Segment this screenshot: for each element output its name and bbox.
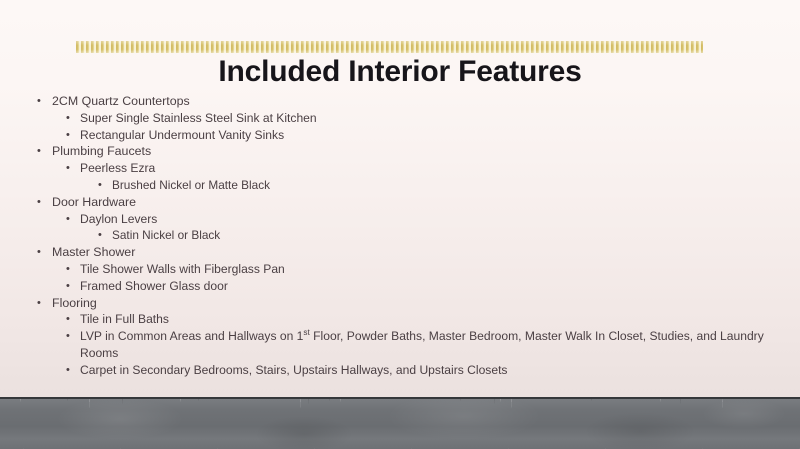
bullet-icon: • (66, 362, 70, 379)
list-item: •Plumbing Faucets (0, 143, 790, 160)
list-item-label: Daylon Levers (80, 211, 790, 228)
grey-slate-band (0, 397, 800, 449)
stone-band-mottling (0, 399, 800, 449)
bullet-icon: • (66, 328, 70, 345)
bullet-icon: • (37, 194, 41, 211)
bullet-icon: • (66, 278, 70, 295)
dashed-gold-rule-decoration (76, 41, 703, 53)
list-item: •Tile Shower Walls with Fiberglass Pan (0, 261, 790, 278)
slide-canvas: Included Interior Features •2CM Quartz C… (0, 0, 800, 449)
page-title: Included Interior Features (0, 55, 800, 89)
bullet-icon: • (66, 160, 70, 177)
list-item-label: Master Shower (52, 244, 790, 261)
list-item-label: Peerless Ezra (80, 160, 790, 177)
list-item-label: Tile Shower Walls with Fiberglass Pan (80, 261, 790, 278)
list-item: •Master Shower (0, 244, 790, 261)
bullet-icon: • (37, 295, 41, 312)
feature-bullet-list: •2CM Quartz Countertops•Super Single Sta… (0, 93, 790, 379)
bullet-icon: • (66, 211, 70, 228)
list-item-label: Flooring (52, 295, 790, 312)
bullet-icon: • (98, 227, 102, 244)
list-item-label: Plumbing Faucets (52, 143, 790, 160)
list-item-label: Satin Nickel or Black (112, 227, 790, 244)
list-item-label: Framed Shower Glass door (80, 278, 790, 295)
list-item: •LVP in Common Areas and Hallways on 1st… (0, 328, 790, 362)
list-item: •Tile in Full Baths (0, 311, 790, 328)
list-item: •Carpet in Secondary Bedrooms, Stairs, U… (0, 362, 790, 379)
list-item: •Door Hardware (0, 194, 790, 211)
list-item-label: LVP in Common Areas and Hallways on 1st … (80, 328, 790, 362)
list-item-label: Door Hardware (52, 194, 790, 211)
list-item-label: Brushed Nickel or Matte Black (112, 177, 790, 194)
bullet-icon: • (98, 177, 102, 194)
bullet-icon: • (66, 127, 70, 144)
list-item: •2CM Quartz Countertops (0, 93, 790, 110)
list-item: •Framed Shower Glass door (0, 278, 790, 295)
bullet-icon: • (66, 311, 70, 328)
bullet-icon: • (66, 110, 70, 127)
list-item-label: Tile in Full Baths (80, 311, 790, 328)
list-item: •Super Single Stainless Steel Sink at Ki… (0, 110, 790, 127)
bullet-icon: • (37, 244, 41, 261)
list-item: •Daylon Levers (0, 211, 790, 228)
list-item-label: Super Single Stainless Steel Sink at Kit… (80, 110, 790, 127)
list-item-label: 2CM Quartz Countertops (52, 93, 790, 110)
list-item: •Satin Nickel or Black (0, 227, 790, 244)
bullet-icon: • (37, 93, 41, 110)
list-item-label: Rectangular Undermount Vanity Sinks (80, 127, 790, 144)
bullet-icon: • (37, 143, 41, 160)
list-item: •Rectangular Undermount Vanity Sinks (0, 127, 790, 144)
list-item-label: Carpet in Secondary Bedrooms, Stairs, Up… (80, 362, 790, 379)
list-item: •Brushed Nickel or Matte Black (0, 177, 790, 194)
list-item: •Peerless Ezra (0, 160, 790, 177)
bullet-icon: • (66, 261, 70, 278)
list-item: •Flooring (0, 295, 790, 312)
